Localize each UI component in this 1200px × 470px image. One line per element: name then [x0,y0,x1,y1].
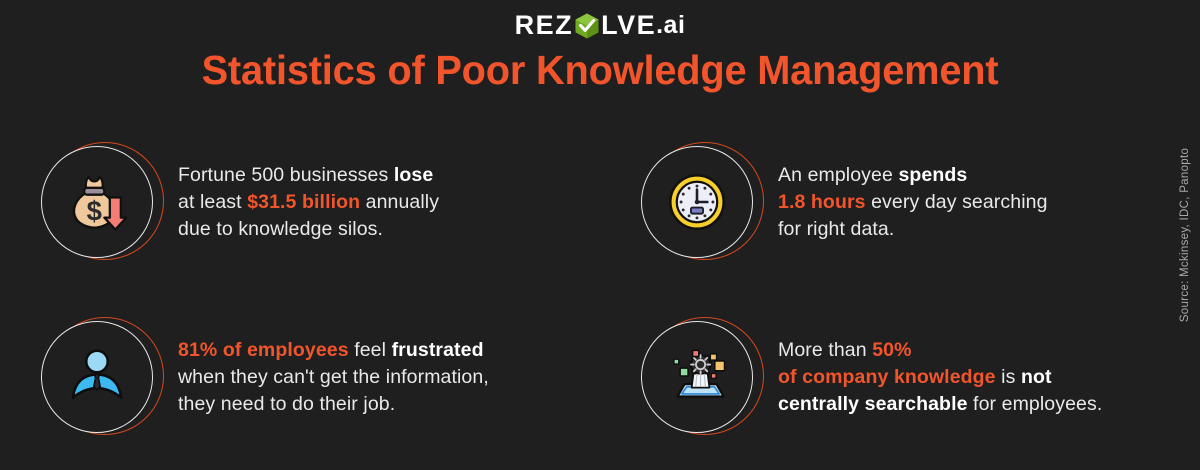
money-bag-down-arrow-icon: $ [41,146,153,258]
stat-text-run: 50% [872,339,911,361]
stat-text-run: frustrated [392,339,484,361]
stat-text-line: 1.8 hours every day searching [778,189,1048,216]
stat-text-run: for employees. [968,393,1103,415]
brand-logo: REZ LVE .ai [0,8,1200,42]
svg-text:$: $ [87,195,102,226]
brand-logo-suffix: .ai [656,13,685,38]
stat-text-line: when they can't get the information, [178,364,489,391]
stat-text: 81% of employees feel frustratedwhen the… [178,337,489,418]
stat-text-run: More than [778,339,872,361]
stat-text-line: 81% of employees feel frustrated [178,337,489,364]
stat-card-money-loss: $ Fortune 500 businesses loseat least $3… [38,138,439,266]
clock-icon [641,146,753,258]
brand-logo-prefix: REZ [515,12,574,39]
stat-text-run: 1.8 hours [778,191,866,213]
stat-icon-badge [38,313,170,441]
stat-text-line: centrally searchable for employees. [778,391,1102,418]
source-text: Source: Mckinsey, IDC, Panopto [1179,148,1191,322]
stat-text-run: annually [360,191,439,213]
stat-text-run: lose [394,164,433,186]
stat-card-frustrated-employees: 81% of employees feel frustratedwhen the… [38,313,489,441]
stat-text-run: for right data. [778,218,894,240]
source-attribution: Source: Mckinsey, IDC, Panopto [1172,0,1198,470]
stat-text: Fortune 500 businesses loseat least $31.… [178,162,439,243]
stat-card-time-spent: An employee spends1.8 hours every day se… [638,138,1048,266]
stat-text-line: of company knowledge is not [778,364,1102,391]
stat-text-line: at least $31.5 billion annually [178,189,439,216]
stat-text-run: not [1021,366,1052,388]
stat-text-run: is [996,366,1021,388]
green-cube-check-icon [574,12,600,40]
stat-text-run: spends [898,164,967,186]
stat-text-run: 81% of employees [178,339,349,361]
stat-icon-badge [638,138,770,266]
stat-text-run: $31.5 billion [247,191,360,213]
page-title: Statistics of Poor Knowledge Management [18,47,1182,94]
stat-text-run: of company knowledge [778,366,996,388]
stat-text-run: every day searching [866,191,1048,213]
stat-icon-badge [638,313,770,441]
stat-text-line: Fortune 500 businesses lose [178,162,439,189]
brand-logo-text: REZ LVE .ai [515,11,686,39]
stat-text-run: An employee [778,164,898,186]
stat-text-line: due to knowledge silos. [178,216,439,243]
stat-text-line: An employee spends [778,162,1048,189]
stat-text-run: centrally searchable [778,393,968,415]
stat-text-line: they need to do their job. [178,391,489,418]
employee-person-icon [41,321,153,433]
stat-text-run: at least [178,191,247,213]
stat-text-run: Fortune 500 businesses [178,164,394,186]
stat-text: More than 50%of company knowledge is not… [778,337,1102,418]
stat-text: An employee spends1.8 hours every day se… [778,162,1048,243]
infographic-canvas: REZ LVE .ai Statistics of Poor Knowledge… [0,0,1200,470]
brand-logo-mid: LVE [601,12,656,39]
data-gear-tablet-icon [641,321,753,433]
stat-text-run: feel [349,339,392,361]
stat-card-searchability: More than 50%of company knowledge is not… [638,313,1102,441]
stat-icon-badge: $ [38,138,170,266]
stat-text-run: they need to do their job. [178,393,395,415]
stat-text-run: when they can't get the information, [178,366,489,388]
stat-text-line: More than 50% [778,337,1102,364]
stat-text-line: for right data. [778,216,1048,243]
stat-text-run: due to knowledge silos. [178,218,383,240]
